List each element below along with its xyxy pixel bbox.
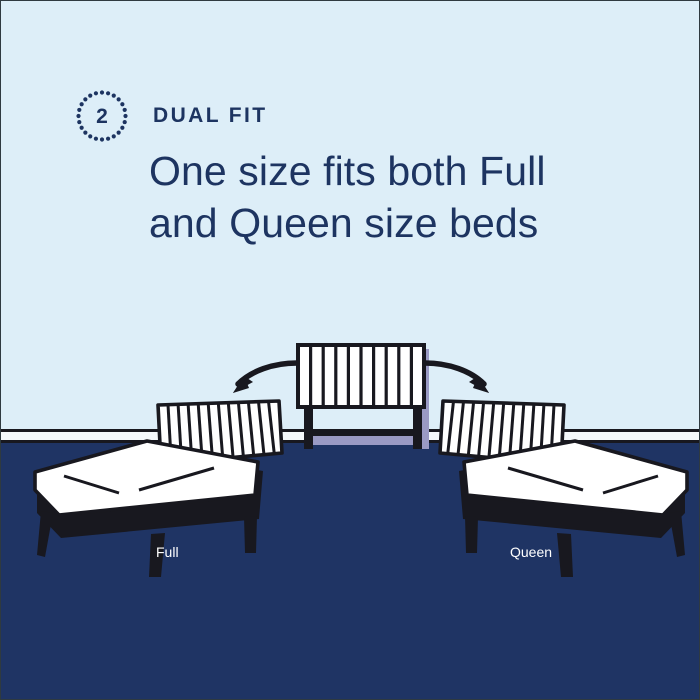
step-badge: 2 [75,89,129,143]
headline-line-1: One size fits both Full [149,148,546,194]
floor-background [1,443,700,700]
promo-graphic: 2 DUAL FIT One size fits both Full and Q… [0,0,700,700]
headline-line-2: and Queen size beds [149,197,669,249]
eyebrow-label: DUAL FIT [153,104,267,128]
queen-bed-caption: Queen [510,544,552,560]
baseboard [1,432,700,440]
eyebrow-row: 2 DUAL FIT [75,89,267,143]
page-title: One size fits both Full and Queen size b… [149,145,669,249]
step-number: 2 [96,106,108,127]
full-bed-caption: Full [156,544,179,560]
